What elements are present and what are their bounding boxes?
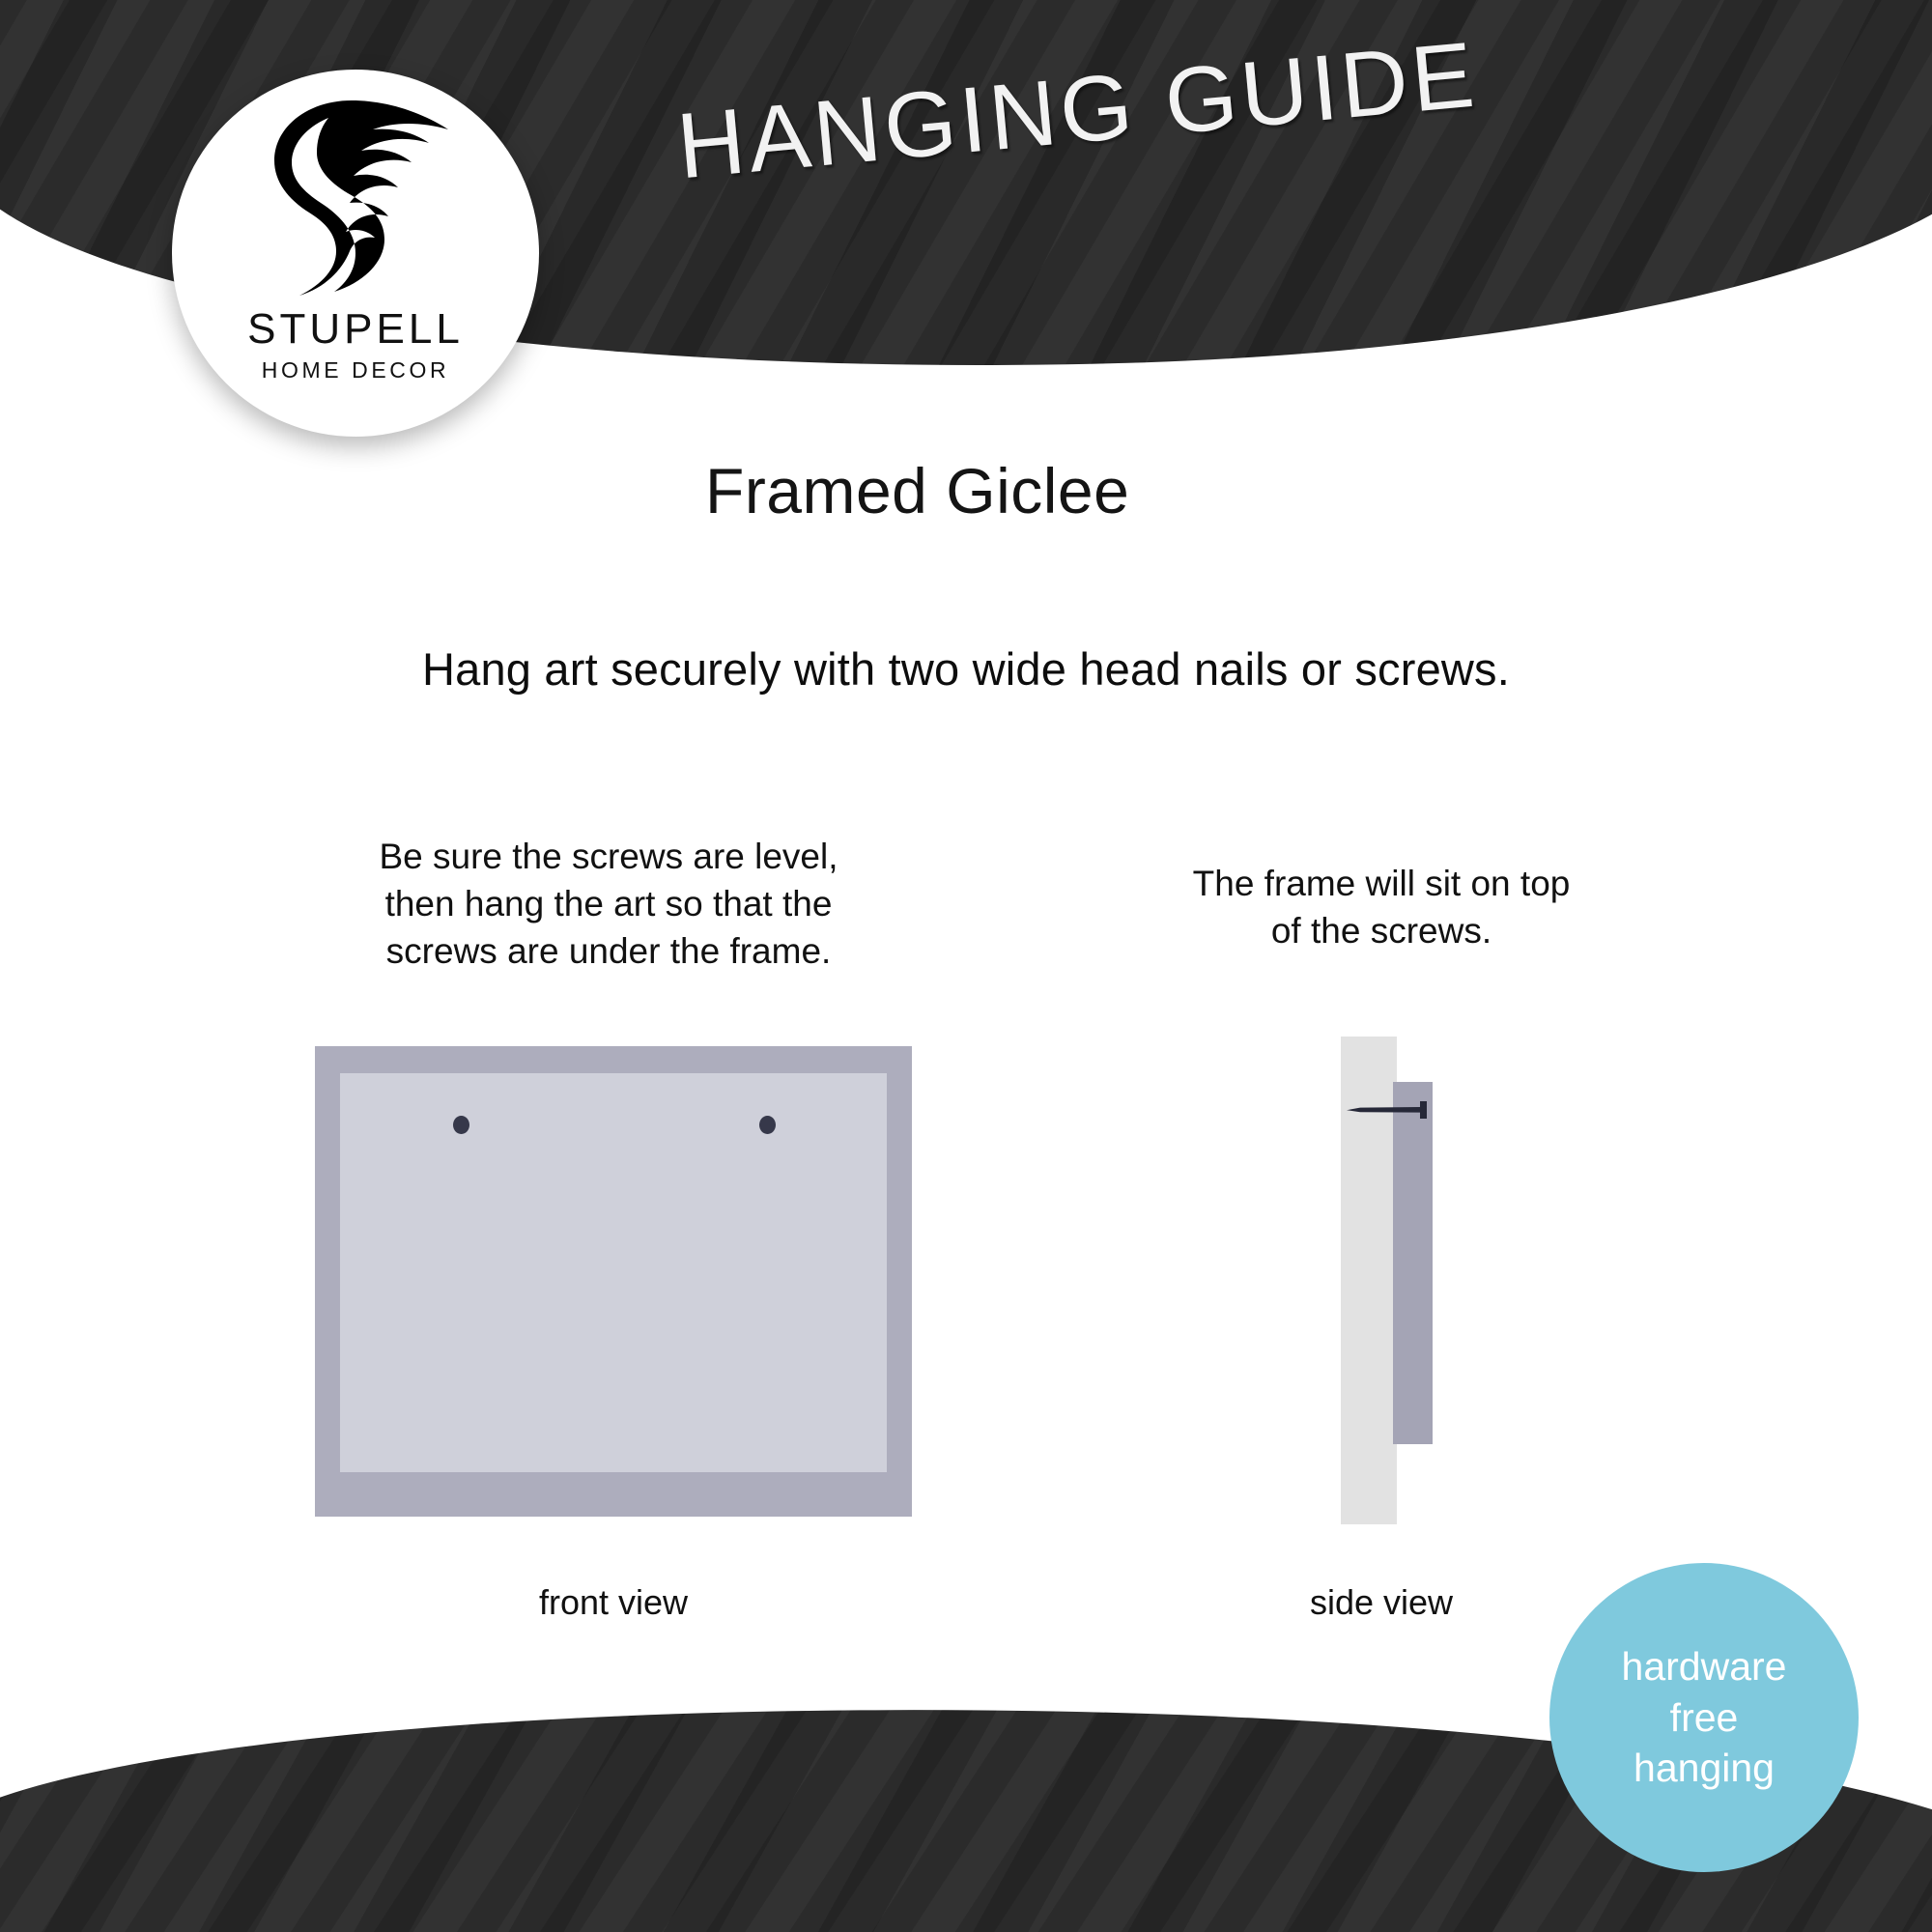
caption-line: then hang the art so that the <box>290 880 927 927</box>
badge-line-2: free <box>1670 1692 1739 1743</box>
stupell-swoosh-icon <box>259 99 452 303</box>
caption-line: The frame will sit on top <box>1111 860 1652 907</box>
screw-dot-right-icon <box>759 1116 776 1134</box>
brand-logo: STUPELL HOME DECOR <box>172 70 539 437</box>
logo-tagline: HOME DECOR <box>262 357 449 384</box>
front-view-label: front view <box>315 1582 912 1623</box>
side-view-frame <box>1393 1082 1433 1444</box>
logo-wordmark: STUPELL <box>247 305 464 354</box>
nail-icon <box>1347 1101 1435 1119</box>
screw-dot-left-icon <box>453 1116 469 1134</box>
hardware-free-badge: hardware free hanging <box>1549 1563 1859 1872</box>
caption-line: screws are under the frame. <box>290 927 927 975</box>
product-name: Framed Giclee <box>705 454 1129 527</box>
front-view-caption: Be sure the screws are level, then hang … <box>290 833 927 976</box>
hanging-guide-page: HANGING GUIDE STUPELL HOME DECOR Framed … <box>0 0 1932 1932</box>
front-view-frame <box>315 1046 912 1517</box>
side-view-caption: The frame will sit on top of the screws. <box>1111 860 1652 954</box>
lead-instruction: Hang art securely with two wide head nai… <box>0 642 1932 696</box>
caption-line: Be sure the screws are level, <box>290 833 927 880</box>
badge-line-1: hardware <box>1622 1641 1787 1691</box>
side-view-label: side view <box>1207 1582 1555 1623</box>
front-view-mat <box>340 1073 887 1472</box>
badge-line-3: hanging <box>1634 1743 1775 1793</box>
caption-line: of the screws. <box>1111 907 1652 954</box>
